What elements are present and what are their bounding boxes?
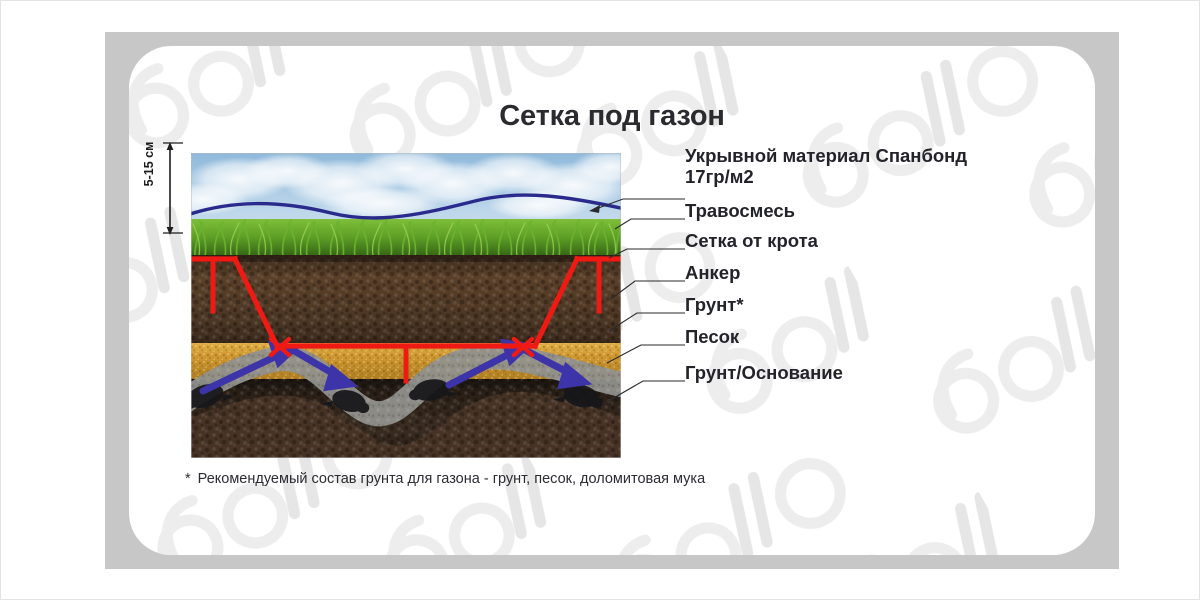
depth-dimension-label: 5-15 см (142, 132, 156, 196)
leader-anchor (611, 281, 685, 299)
content-card: Сетка под газон 5-15 см (129, 46, 1095, 555)
page-root: Сетка под газон 5-15 см (0, 0, 1200, 600)
label-soil: Грунт* (685, 295, 744, 316)
label-spunbond: Укрывной материал Спанбонд 17гр/м2 (685, 146, 967, 188)
layer-grass (191, 219, 621, 259)
gray-panel: Сетка под газон 5-15 см (105, 32, 1119, 569)
footnote-marker: * (185, 471, 191, 487)
page-title: Сетка под газон (129, 100, 1095, 133)
label-grass-mix: Травосмесь (685, 201, 795, 222)
label-anchor: Анкер (685, 263, 740, 284)
footnote: *Рекомендуемый состав грунта для газона … (185, 471, 705, 487)
label-mole-net: Сетка от крота (685, 231, 818, 252)
depth-dimension: 5-15 см (137, 141, 185, 236)
footnote-text: Рекомендуемый состав грунта для газона -… (198, 471, 705, 487)
soil-cross-section-diagram (191, 153, 621, 458)
label-base: Грунт/Основание (685, 363, 843, 384)
label-sand: Песок (685, 327, 739, 348)
leader-grass-mix (615, 219, 685, 229)
